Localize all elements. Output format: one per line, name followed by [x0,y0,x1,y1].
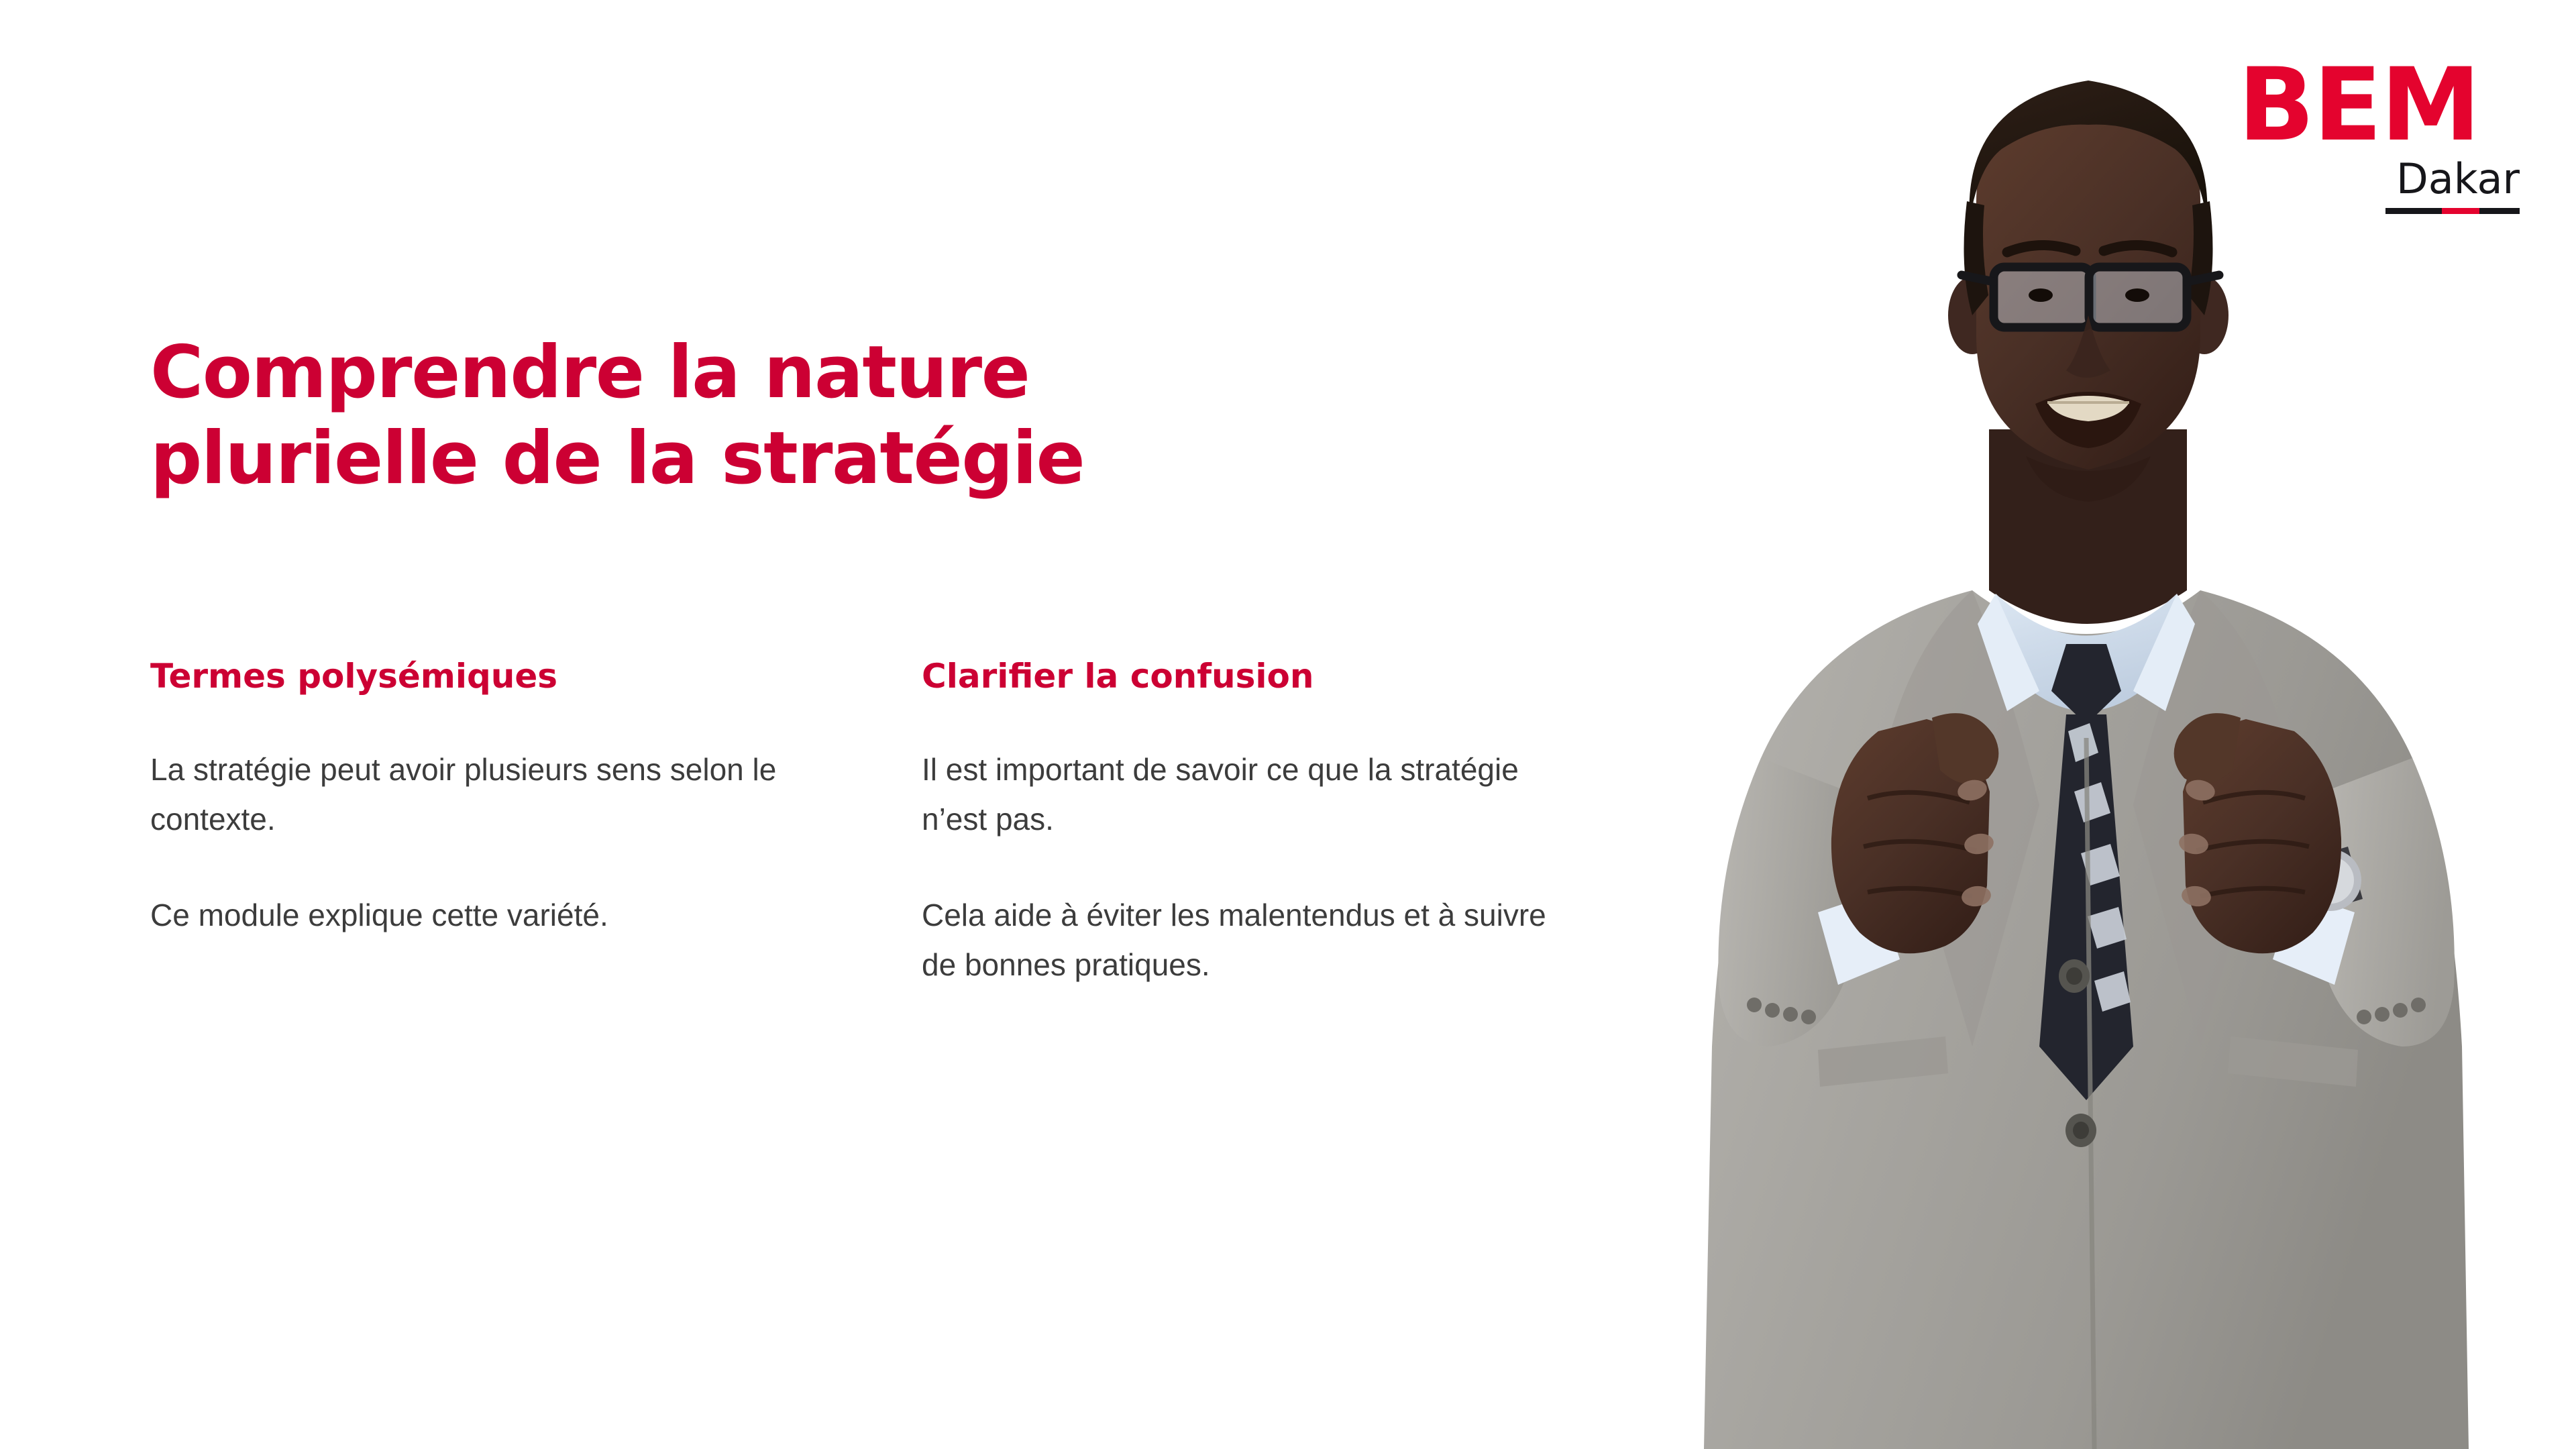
column-clarifier-la-confusion: Clarifier la confusion Il est important … [922,657,1559,990]
logo-rule-segment-black-left [2385,208,2442,214]
column-2-paragraph-1: Il est important de savoir ce que la str… [922,745,1559,845]
slide-canvas: BEM Dakar Comprendre la nature plurielle… [0,0,2576,1449]
glasses-icon [1962,267,2219,327]
column-1-paragraph-1: La stratégie peut avoir plusieurs sens s… [150,745,788,845]
column-2-paragraph-2: Cela aide à éviter les malentendus et à … [922,890,1559,990]
logo-rule-segment-red [2442,208,2479,214]
presenter-photo [1597,0,2576,1449]
logo-bem-text: BEM [2238,64,2520,147]
page-title-line-2: plurielle de la stratégie [150,416,1425,501]
column-termes-polysemiques: Termes polysémiques La stratégie peut av… [150,657,788,990]
column-2-heading: Clarifier la confusion [922,657,1559,696]
column-1-heading: Termes polysémiques [150,657,788,696]
logo-underline-rule [2385,208,2520,214]
logo-rule-segment-black-right [2479,208,2520,214]
bem-dakar-logo: BEM Dakar [2238,64,2520,212]
column-1-paragraph-2: Ce module explique cette variété. [150,890,788,941]
content-columns: Termes polysémiques La stratégie peut av… [150,657,1559,990]
page-title-line-1: Comprendre la nature [150,330,1425,415]
page-title: Comprendre la nature plurielle de la str… [150,330,1425,501]
presenter-illustration [1597,0,2576,1449]
logo-dakar-text: Dakar [2238,158,2520,200]
